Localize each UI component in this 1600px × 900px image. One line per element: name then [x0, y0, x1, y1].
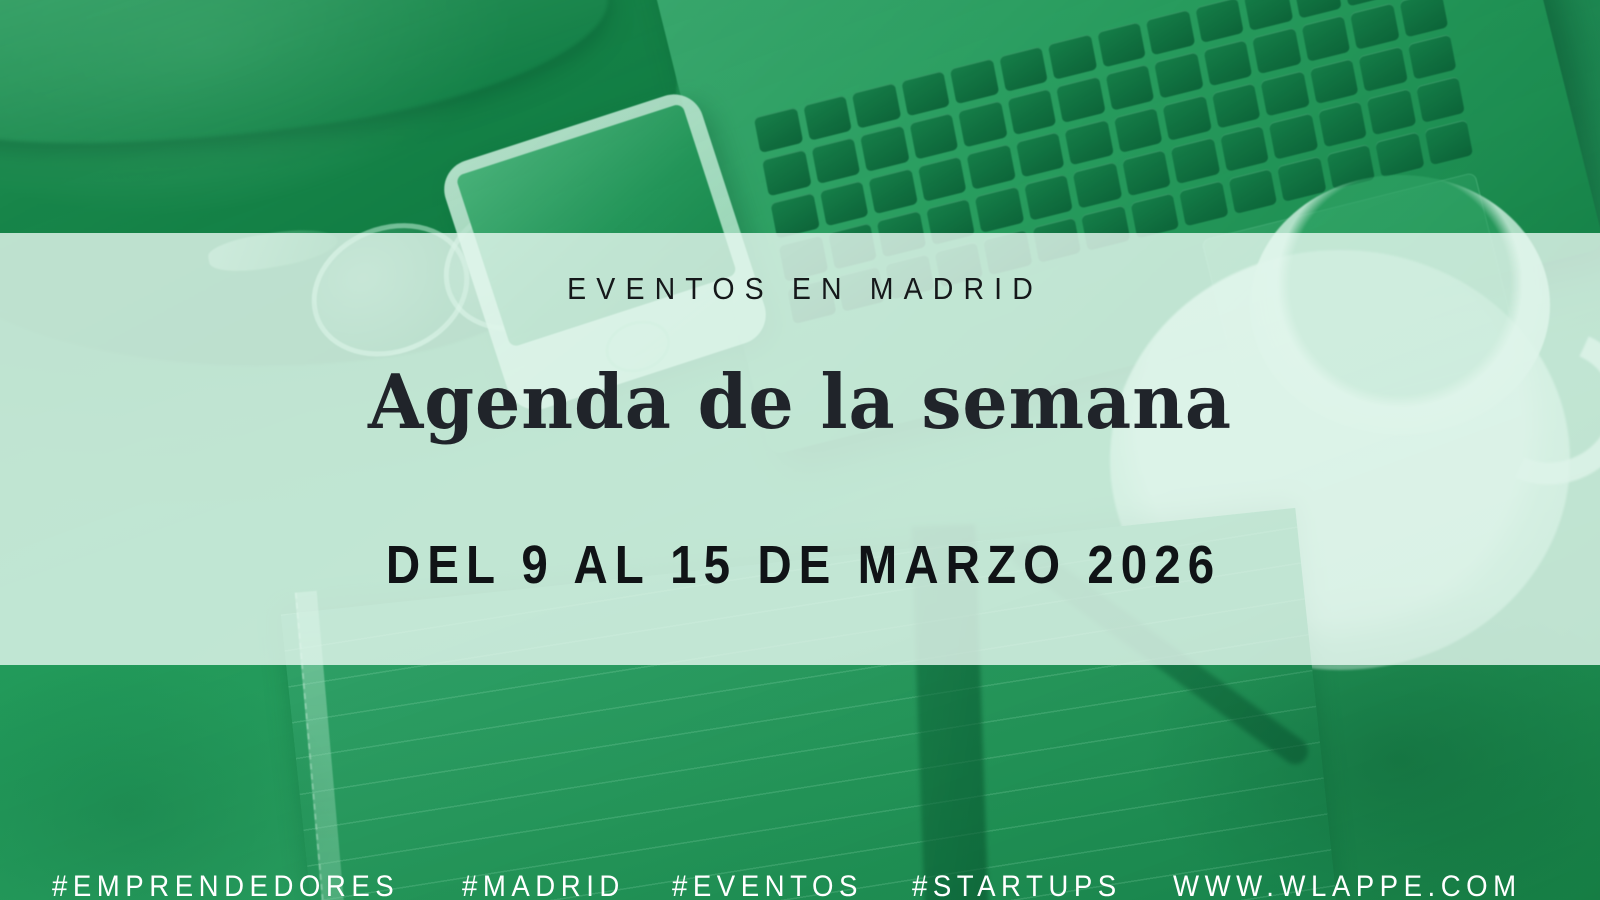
eyebrow-text: EVENTOS EN MADRID [64, 271, 1536, 307]
page-title: Agenda de la semana [40, 358, 1560, 446]
hashtag-startups[interactable]: #STARTUPS [912, 870, 1122, 900]
hashtag-emprendedores[interactable]: #EMPRENDEDORES [52, 870, 399, 900]
hashtag-madrid[interactable]: #MADRID [462, 870, 625, 900]
hashtag-eventos[interactable]: #EVENTOS [672, 870, 863, 900]
date-range: DEL 9 AL 15 DE MARZO 2026 [96, 534, 1504, 596]
banner-canvas: EVENTOS EN MADRID Agenda de la semana DE… [0, 0, 1600, 900]
footer-bar: #EMPRENDEDORES #MADRID #EVENTOS #STARTUP… [52, 870, 1552, 900]
website-url[interactable]: WWW.WLAPPE.COM [1173, 870, 1522, 900]
